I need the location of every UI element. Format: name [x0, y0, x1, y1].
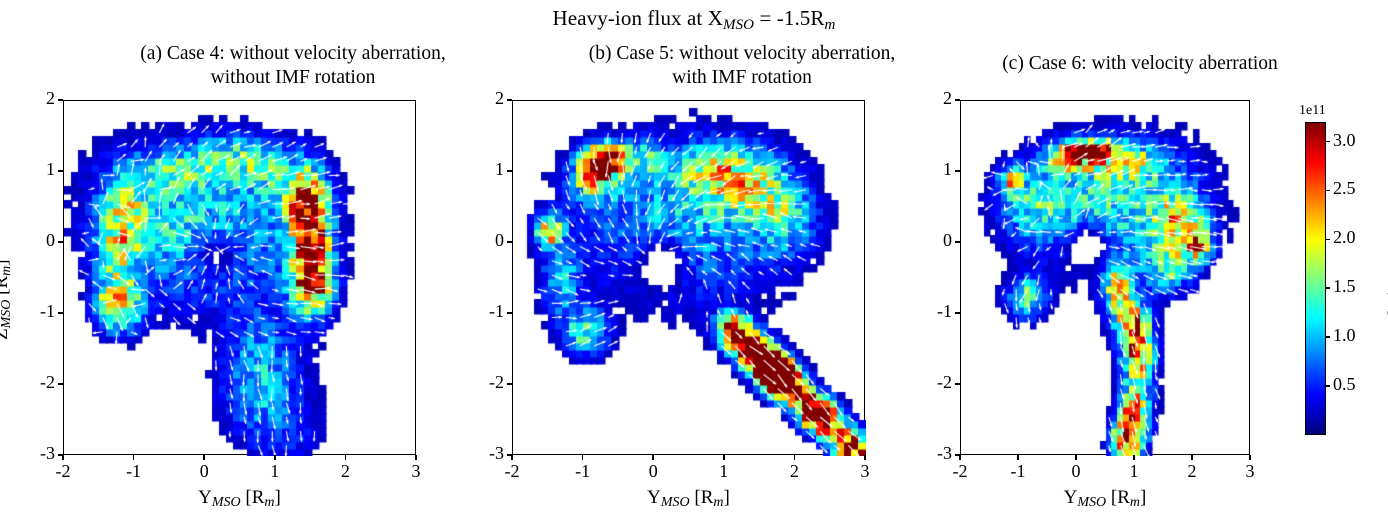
x-tick-label: 1: [704, 461, 744, 482]
panel-b-axes: [512, 100, 865, 455]
x-tick: [133, 455, 135, 460]
x-tick-label: -2: [940, 461, 980, 482]
x-tick-label: 2: [774, 461, 814, 482]
figure-canvas: Heavy-ion flux at XMSO = -1.5Rm (a) Case…: [0, 0, 1388, 516]
y-tick: [955, 241, 960, 243]
colorbar-tick: [1326, 336, 1330, 338]
panel-b-title: (b) Case 5: without velocity aberration,…: [492, 42, 992, 90]
y-tick: [507, 454, 512, 456]
y-tick: [955, 99, 960, 101]
x-tick: [1249, 455, 1251, 460]
y-tick: [58, 454, 63, 456]
y-tick-label: 2: [9, 88, 55, 109]
x-tick-label: 1: [255, 461, 295, 482]
colorbar-offset-text: 1e11: [1299, 103, 1326, 119]
y-tick: [955, 383, 960, 385]
colorbar-tick: [1326, 190, 1330, 192]
y-tick: [955, 312, 960, 314]
colorbar-tick: [1326, 141, 1330, 143]
panel-b-xlabel: YMSO [Rm]: [512, 487, 865, 511]
x-tick: [582, 455, 584, 460]
y-tick-label: -2: [9, 372, 55, 393]
y-tick: [507, 170, 512, 172]
panel-b: (b) Case 5: without velocity aberration,…: [512, 0, 865, 516]
colorbar-tick-label: 2.0: [1333, 227, 1356, 248]
x-tick: [864, 455, 866, 460]
x-tick-label: -2: [492, 461, 532, 482]
y-tick-label: -3: [906, 443, 952, 464]
x-tick-label: 0: [633, 461, 673, 482]
y-tick-label: -1: [906, 301, 952, 322]
x-tick: [415, 455, 417, 460]
x-tick-label: -2: [43, 461, 83, 482]
colorbar-tick: [1326, 385, 1330, 387]
panel-c-title: (c) Case 6: with velocity aberration: [940, 52, 1340, 76]
y-tick: [507, 241, 512, 243]
x-tick: [652, 455, 654, 460]
colorbar-tick-label: 1.0: [1333, 325, 1356, 346]
x-tick-label: 2: [1172, 461, 1212, 482]
y-tick-label: -2: [458, 372, 504, 393]
y-tick: [507, 383, 512, 385]
x-tick: [274, 455, 276, 460]
y-tick-label: 0: [906, 230, 952, 251]
y-tick-label: 1: [458, 159, 504, 180]
x-tick: [1133, 455, 1135, 460]
y-tick: [58, 383, 63, 385]
x-tick-label: 3: [845, 461, 885, 482]
colorbar-tick: [1326, 239, 1330, 241]
y-tick-label: -1: [9, 301, 55, 322]
y-tick: [58, 241, 63, 243]
colorbar-tick-label: 2.5: [1333, 178, 1356, 199]
y-tick: [955, 170, 960, 172]
x-tick-label: 1: [1114, 461, 1154, 482]
y-tick: [955, 454, 960, 456]
panel-c-heatmap: [961, 101, 1251, 456]
colorbar-tick-label: 1.5: [1333, 276, 1356, 297]
panel-a: (a) Case 4: without velocity aberration,…: [63, 0, 416, 516]
x-tick: [1191, 455, 1193, 460]
y-tick: [58, 99, 63, 101]
y-tick-label: -3: [458, 443, 504, 464]
x-tick: [723, 455, 725, 460]
y-tick-label: 0: [9, 230, 55, 251]
x-tick: [1075, 455, 1077, 460]
panel-a-xlabel: YMSO [Rm]: [63, 487, 416, 511]
x-tick: [345, 455, 347, 460]
x-tick-label: -1: [998, 461, 1038, 482]
colorbar-gradient: [1305, 122, 1326, 435]
y-tick: [507, 99, 512, 101]
panel-c: (c) Case 6: with velocity aberration YMS…: [960, 0, 1250, 516]
y-tick-label: -2: [906, 372, 952, 393]
y-tick: [58, 170, 63, 172]
y-tick-label: -1: [458, 301, 504, 322]
panel-c-xlabel: YMSO [Rm]: [960, 487, 1250, 511]
x-tick: [1017, 455, 1019, 460]
colorbar-tick: [1326, 287, 1330, 289]
y-tick-label: 0: [458, 230, 504, 251]
x-tick-label: 0: [184, 461, 224, 482]
x-tick-label: 3: [396, 461, 436, 482]
x-tick: [794, 455, 796, 460]
colorbar-unit-label: [m-2s-1]: [1384, 284, 1388, 341]
panel-a-axes: [63, 100, 416, 455]
panel-a-heatmap: [64, 101, 417, 456]
y-tick-label: -3: [9, 443, 55, 464]
y-tick-label: 2: [458, 88, 504, 109]
x-tick-label: -1: [114, 461, 154, 482]
y-tick-label: 1: [906, 159, 952, 180]
colorbar: 1e11 [m-2s-1] 3.02.52.01.51.00.5: [1305, 122, 1326, 435]
x-tick-label: -1: [563, 461, 603, 482]
panel-a-title: (a) Case 4: without velocity aberration,…: [43, 42, 543, 90]
panel-b-heatmap: [513, 101, 866, 456]
y-tick: [58, 312, 63, 314]
x-tick-label: 0: [1056, 461, 1096, 482]
panel-a-ylabel: ZMSO [Rm]: [0, 259, 15, 340]
y-tick-label: 1: [9, 159, 55, 180]
y-tick: [507, 312, 512, 314]
y-tick-label: 2: [906, 88, 952, 109]
x-tick-label: 3: [1230, 461, 1270, 482]
x-tick: [203, 455, 205, 460]
colorbar-tick-label: 3.0: [1333, 130, 1356, 151]
panel-c-axes: [960, 100, 1250, 455]
colorbar-tick-label: 0.5: [1333, 374, 1356, 395]
x-tick-label: 2: [325, 461, 365, 482]
